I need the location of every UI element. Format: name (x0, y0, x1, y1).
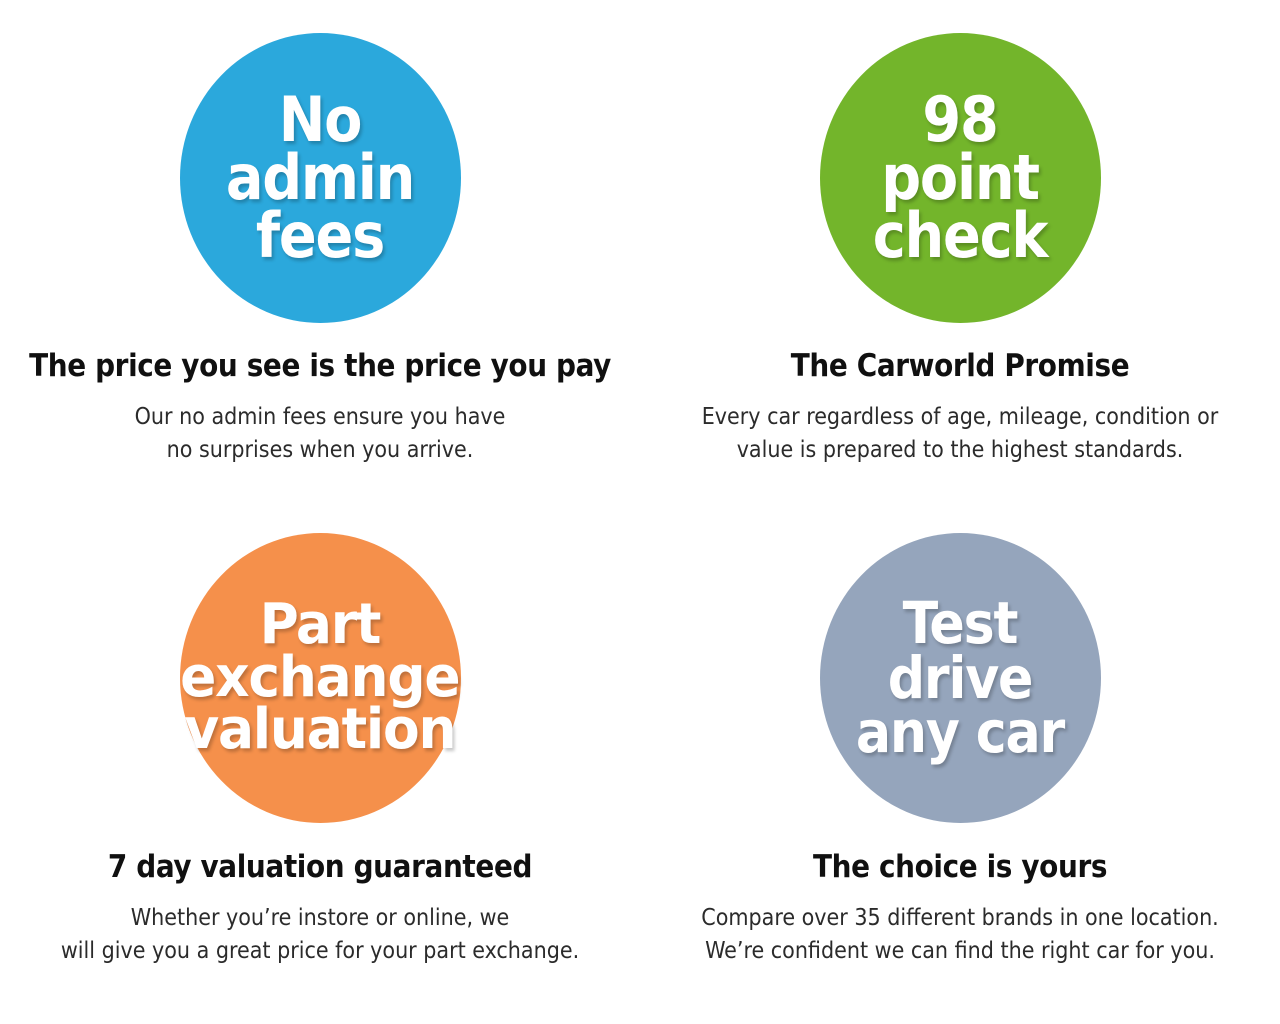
benefit-body: Compare over 35 different brands in one … (701, 902, 1219, 967)
benefit-body-line: Our no admin fees ensure you have (135, 401, 506, 434)
badge-test-drive-any-car: Test drive any car (820, 533, 1101, 823)
badge-line: Test (903, 596, 1018, 651)
benefit-body-line: value is prepared to the highest standar… (702, 434, 1219, 467)
benefit-body-line: no surprises when you arrive. (135, 434, 506, 467)
benefit-card-part-exchange-valuation[interactable]: Part exchange valuation 7 day valuation … (0, 512, 640, 1024)
badge-line: fees (256, 207, 384, 265)
benefits-grid: No admin fees The price you see is the p… (0, 0, 1280, 1024)
benefit-body: Whether you’re instore or online, we wil… (61, 902, 579, 967)
badge-line: drive (888, 651, 1033, 706)
benefit-body-line: We’re confident we can find the right ca… (701, 935, 1219, 968)
benefit-heading: The Carworld Promise (791, 349, 1130, 383)
benefit-card-test-drive-any-car[interactable]: Test drive any car The choice is yours C… (640, 512, 1280, 1024)
benefit-heading: The choice is yours (813, 850, 1107, 884)
badge-line: any car (856, 705, 1064, 760)
badge-no-admin-fees: No admin fees (180, 33, 461, 323)
benefit-card-98-point-check[interactable]: 98 point check The Carworld Promise Ever… (640, 0, 1280, 512)
benefit-body-line: Every car regardless of age, mileage, co… (702, 401, 1219, 434)
benefit-body-line: Whether you’re instore or online, we (61, 902, 579, 935)
benefit-body: Our no admin fees ensure you have no sur… (135, 401, 506, 466)
badge-part-exchange-valuation: Part exchange valuation (180, 533, 461, 823)
badge-line: valuation (184, 704, 455, 757)
benefit-body: Every car regardless of age, mileage, co… (702, 401, 1219, 466)
benefit-card-no-admin-fees[interactable]: No admin fees The price you see is the p… (0, 0, 640, 512)
benefit-heading: The price you see is the price you pay (29, 349, 611, 383)
benefit-heading: 7 day valuation guaranteed (108, 850, 532, 884)
badge-line: check (873, 207, 1048, 265)
benefit-body-line: Compare over 35 different brands in one … (701, 902, 1219, 935)
benefit-body-line: will give you a great price for your par… (61, 935, 579, 968)
badge-98-point-check: 98 point check (820, 33, 1101, 323)
